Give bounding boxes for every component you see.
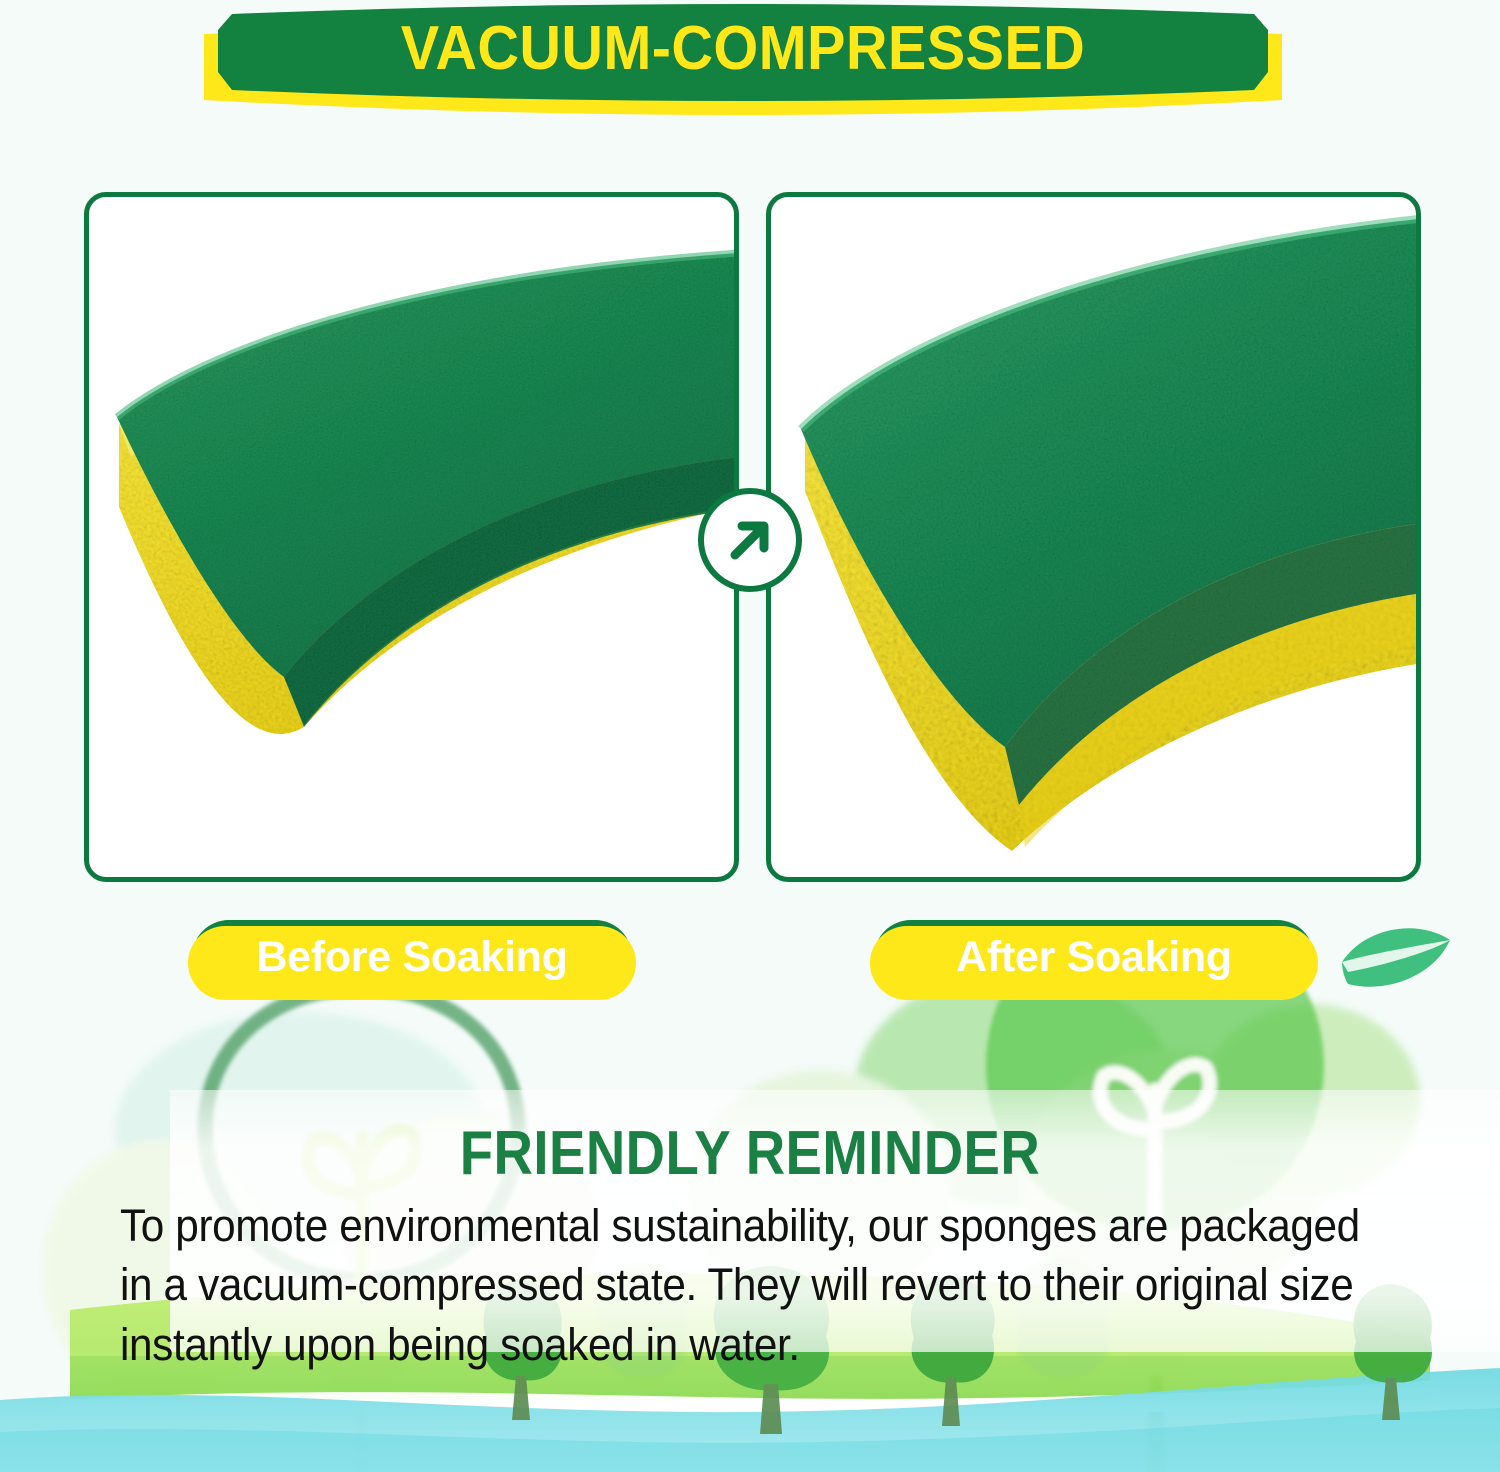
label-after-soaking: After Soaking — [874, 920, 1314, 994]
reminder-line-1: To promote environmental sustainability,… — [120, 1196, 1309, 1255]
pill-text: Before Soaking — [256, 933, 567, 982]
banner-title: VACUUM-COMPRESSED — [236, 0, 1250, 96]
infographic-canvas: VACUUM-COMPRESSED — [0, 0, 1500, 1472]
headline-banner: VACUUM-COMPRESSED — [198, 0, 1288, 120]
sponge-expanded-image — [766, 192, 1421, 882]
reminder-line-3: instantly upon being soaked in water. — [120, 1315, 1309, 1374]
panel-after-soaking — [766, 192, 1421, 882]
reminder-line-2: in a vacuum-compressed state. They will … — [120, 1255, 1309, 1314]
reminder-title: FRIENDLY REMINDER — [90, 1118, 1410, 1189]
sponge-compressed-image — [84, 207, 739, 847]
pill-text: After Soaking — [956, 933, 1232, 982]
transition-arrow-badge — [698, 488, 802, 592]
label-before-soaking: Before Soaking — [192, 920, 632, 994]
leaf-icon — [1330, 910, 1460, 1002]
reminder-body: To promote environmental sustainability,… — [120, 1196, 1309, 1374]
panel-before-soaking — [84, 192, 739, 882]
arrow-up-right-icon — [722, 512, 778, 568]
